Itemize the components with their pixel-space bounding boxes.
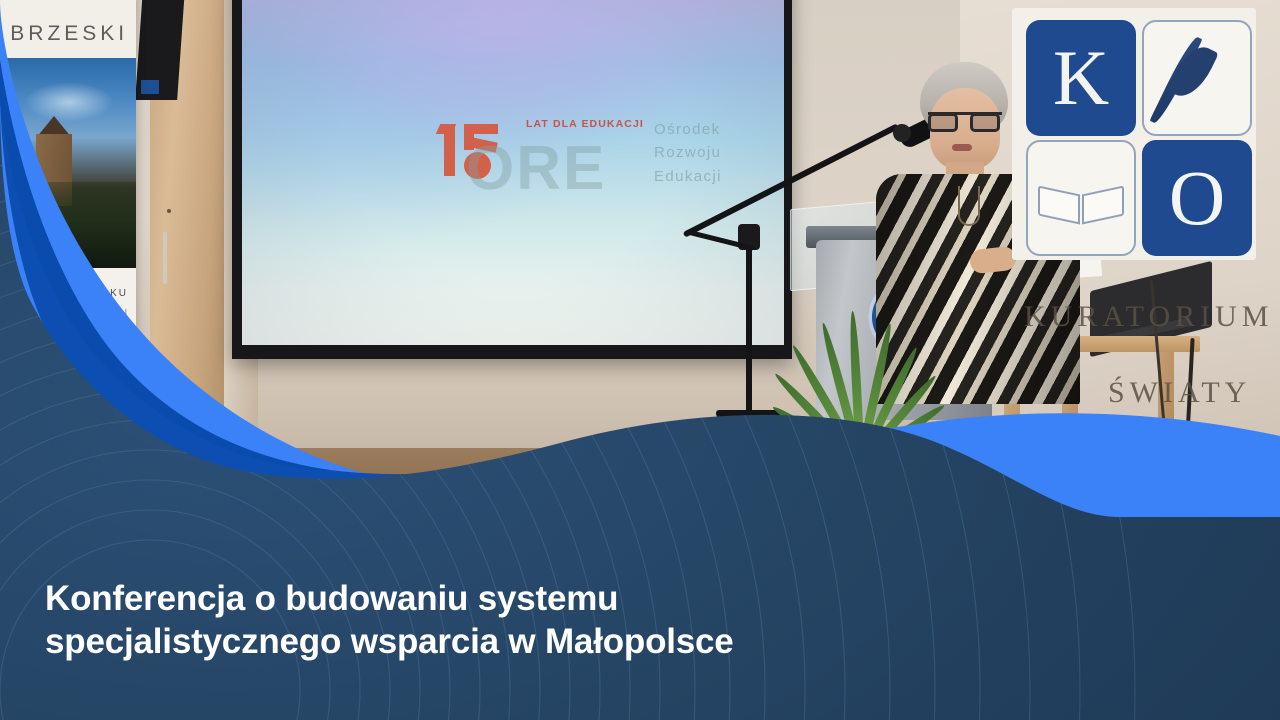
eyeglasses-icon bbox=[928, 112, 1002, 130]
door-handle bbox=[163, 232, 167, 284]
ko-tile-quill bbox=[1142, 20, 1252, 136]
ko-tile-book bbox=[1026, 140, 1136, 256]
ko-letter-o: O bbox=[1142, 140, 1252, 256]
ko-tile-k: K bbox=[1026, 20, 1136, 136]
microphone-pole bbox=[746, 232, 752, 414]
banner-footer-subtext: I bbox=[0, 308, 136, 317]
logo-acronym: ORE bbox=[466, 138, 606, 200]
conference-thumbnail: T BRZESKI racać! BRZESKU I bbox=[0, 0, 1280, 720]
rollup-banner: T BRZESKI racać! BRZESKU I bbox=[0, 0, 136, 344]
feather-quill-barb bbox=[1167, 40, 1219, 103]
logo-name-line1: Ośrodek bbox=[654, 118, 722, 141]
projection-screen-frame: LAT DLA EDUKACJI ORE Ośrodek Rozwoju Edu… bbox=[232, 0, 792, 359]
banner-photo: racać! bbox=[0, 58, 136, 268]
open-book-icon-right bbox=[1082, 186, 1124, 225]
wall-text-line2: ŚWIATY bbox=[1108, 376, 1251, 410]
kuratorium-logo-board: K O bbox=[1012, 8, 1256, 260]
logo-name-line3: Edukacji bbox=[654, 165, 722, 188]
banner-script-text: racać! bbox=[2, 248, 72, 268]
speaker-mouth bbox=[952, 144, 972, 151]
open-book-icon-left bbox=[1038, 186, 1080, 225]
ore-logo: LAT DLA EDUKACJI ORE Ośrodek Rozwoju Edu… bbox=[438, 112, 738, 212]
projection-screen: LAT DLA EDUKACJI ORE Ośrodek Rozwoju Edu… bbox=[242, 0, 784, 345]
ko-letter-k: K bbox=[1026, 20, 1136, 136]
logo-tagline: LAT DLA EDUKACJI bbox=[526, 118, 644, 130]
ko-tile-o: O bbox=[1142, 140, 1252, 256]
speaker-necklace bbox=[958, 186, 980, 226]
title-line-1: Konferencja o budowaniu systemu bbox=[45, 578, 1145, 621]
wall-blue-chip bbox=[141, 80, 159, 94]
wall-text-line1: KURATORIUM bbox=[1024, 300, 1273, 334]
banner-footer-text: BRZESKU bbox=[0, 288, 136, 299]
banner-footer: BRZESKU I bbox=[0, 268, 136, 344]
video-title: Konferencja o budowaniu systemu specjali… bbox=[45, 578, 1145, 663]
logo-name-line2: Rozwoju bbox=[654, 141, 722, 164]
title-line-2: specjalistycznego wsparcia w Małopolsce bbox=[45, 621, 1145, 664]
door-lock-dot bbox=[167, 209, 171, 213]
banner-heading: T BRZESKI bbox=[0, 22, 136, 46]
wall-text-line3: AKOWIE bbox=[1108, 424, 1260, 458]
logo-full-name: Ośrodek Rozwoju Edukacji bbox=[654, 118, 722, 188]
yucca-plant bbox=[760, 252, 960, 462]
